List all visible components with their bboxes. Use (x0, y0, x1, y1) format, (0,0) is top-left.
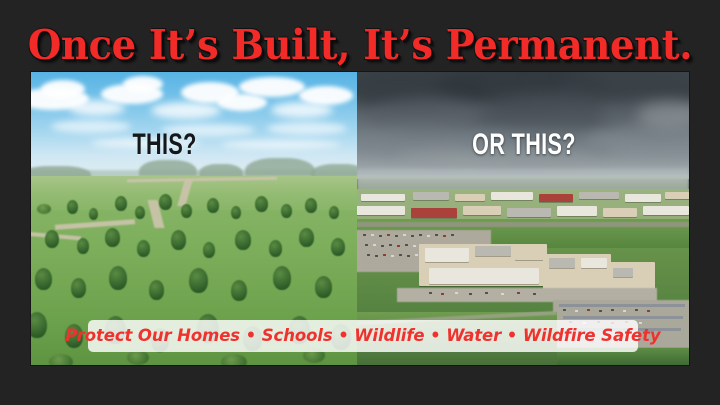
page-title: Once It’s Built, It’s Permanent. (22, 22, 699, 68)
label-or-this: OR THIS? (472, 128, 576, 162)
caption-text: Protect Our Homes • Schools • Wildlife •… (65, 326, 660, 346)
caption-bar: Protect Our Homes • Schools • Wildlife •… (88, 320, 638, 352)
label-this: THIS? (132, 128, 196, 162)
slide-canvas: Once It’s Built, It’s Permanent. (0, 0, 720, 405)
